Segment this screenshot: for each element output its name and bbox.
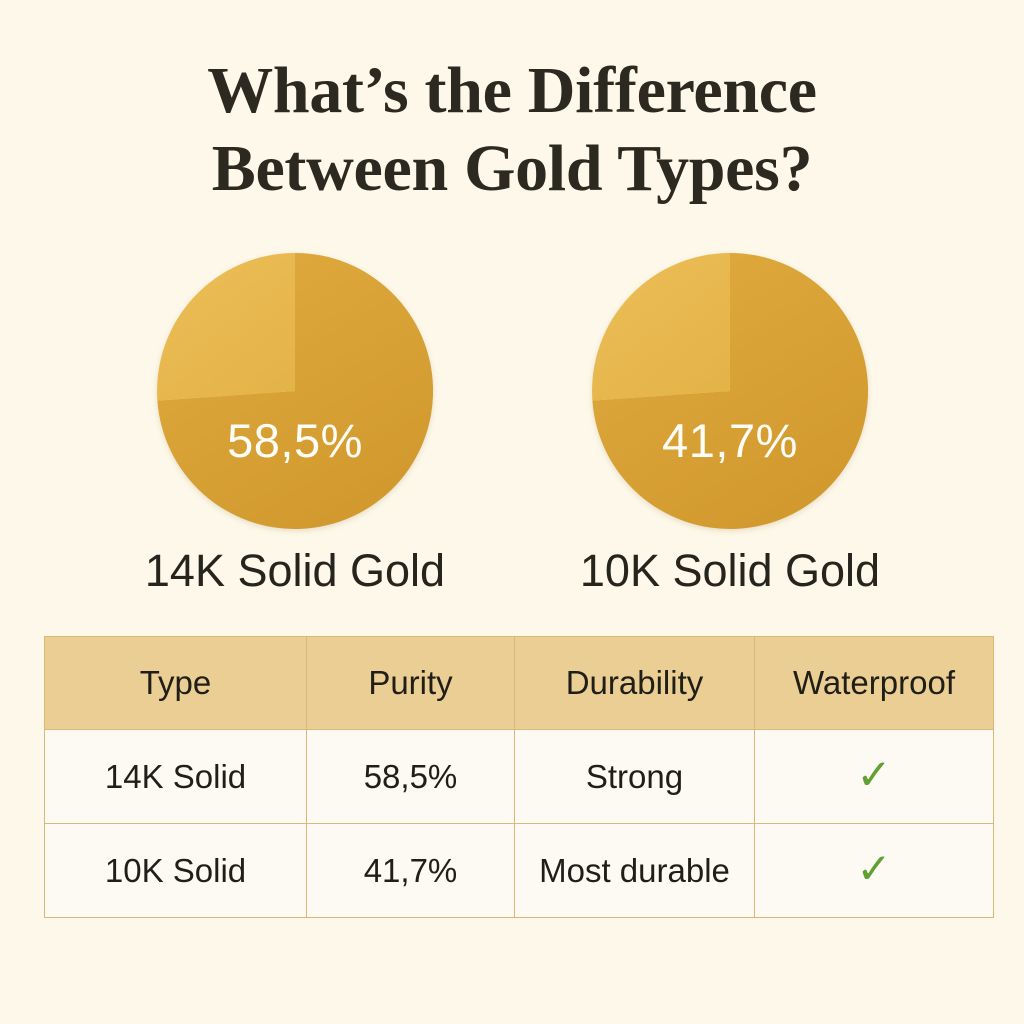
cell-purity: 58,5% — [307, 730, 515, 824]
pie-slice-alloy — [157, 253, 295, 401]
pie-chart-10k-graphic — [592, 253, 868, 529]
table-header: Type Purity Durability Waterproof — [45, 637, 994, 730]
cell-waterproof: ✓ — [755, 730, 994, 824]
title-line-1: What’s the Difference — [0, 52, 1024, 130]
pie-chart-14k-graphic — [157, 253, 433, 529]
cell-durability: Strong — [515, 730, 755, 824]
infographic-page: What’s the Difference Between Gold Types… — [0, 0, 1024, 1024]
cell-type: 14K Solid — [45, 730, 307, 824]
table-header-type: Type — [45, 637, 307, 730]
cell-purity: 41,7% — [307, 824, 515, 918]
pie-chart-14k: 58,5% — [157, 253, 433, 529]
pie-caption-14k: 14K Solid Gold — [55, 545, 535, 597]
cell-waterproof: ✓ — [755, 824, 994, 918]
table-body: 14K Solid 58,5% Strong ✓ 10K Solid 41,7%… — [45, 730, 994, 918]
pie-slice-alloy — [592, 253, 730, 401]
table-header-waterproof: Waterproof — [755, 637, 994, 730]
check-icon: ✓ — [856, 848, 891, 890]
title-line-2: Between Gold Types? — [0, 130, 1024, 208]
pie-chart-10k: 41,7% — [592, 253, 868, 529]
comparison-table: Type Purity Durability Waterproof 14K So… — [44, 636, 994, 918]
comparison-table-wrapper: Type Purity Durability Waterproof 14K So… — [44, 636, 981, 918]
page-title: What’s the Difference Between Gold Types… — [0, 52, 1024, 208]
table-row: 14K Solid 58,5% Strong ✓ — [45, 730, 994, 824]
check-icon: ✓ — [856, 754, 891, 796]
cell-durability: Most durable — [515, 824, 755, 918]
table-header-purity: Purity — [307, 637, 515, 730]
cell-type: 10K Solid — [45, 824, 307, 918]
table-header-row: Type Purity Durability Waterproof — [45, 637, 994, 730]
pie-caption-10k: 10K Solid Gold — [490, 545, 970, 597]
pie-chart-group: 58,5% 41,7% — [0, 253, 1024, 543]
table-row: 10K Solid 41,7% Most durable ✓ — [45, 824, 994, 918]
table-header-durability: Durability — [515, 637, 755, 730]
